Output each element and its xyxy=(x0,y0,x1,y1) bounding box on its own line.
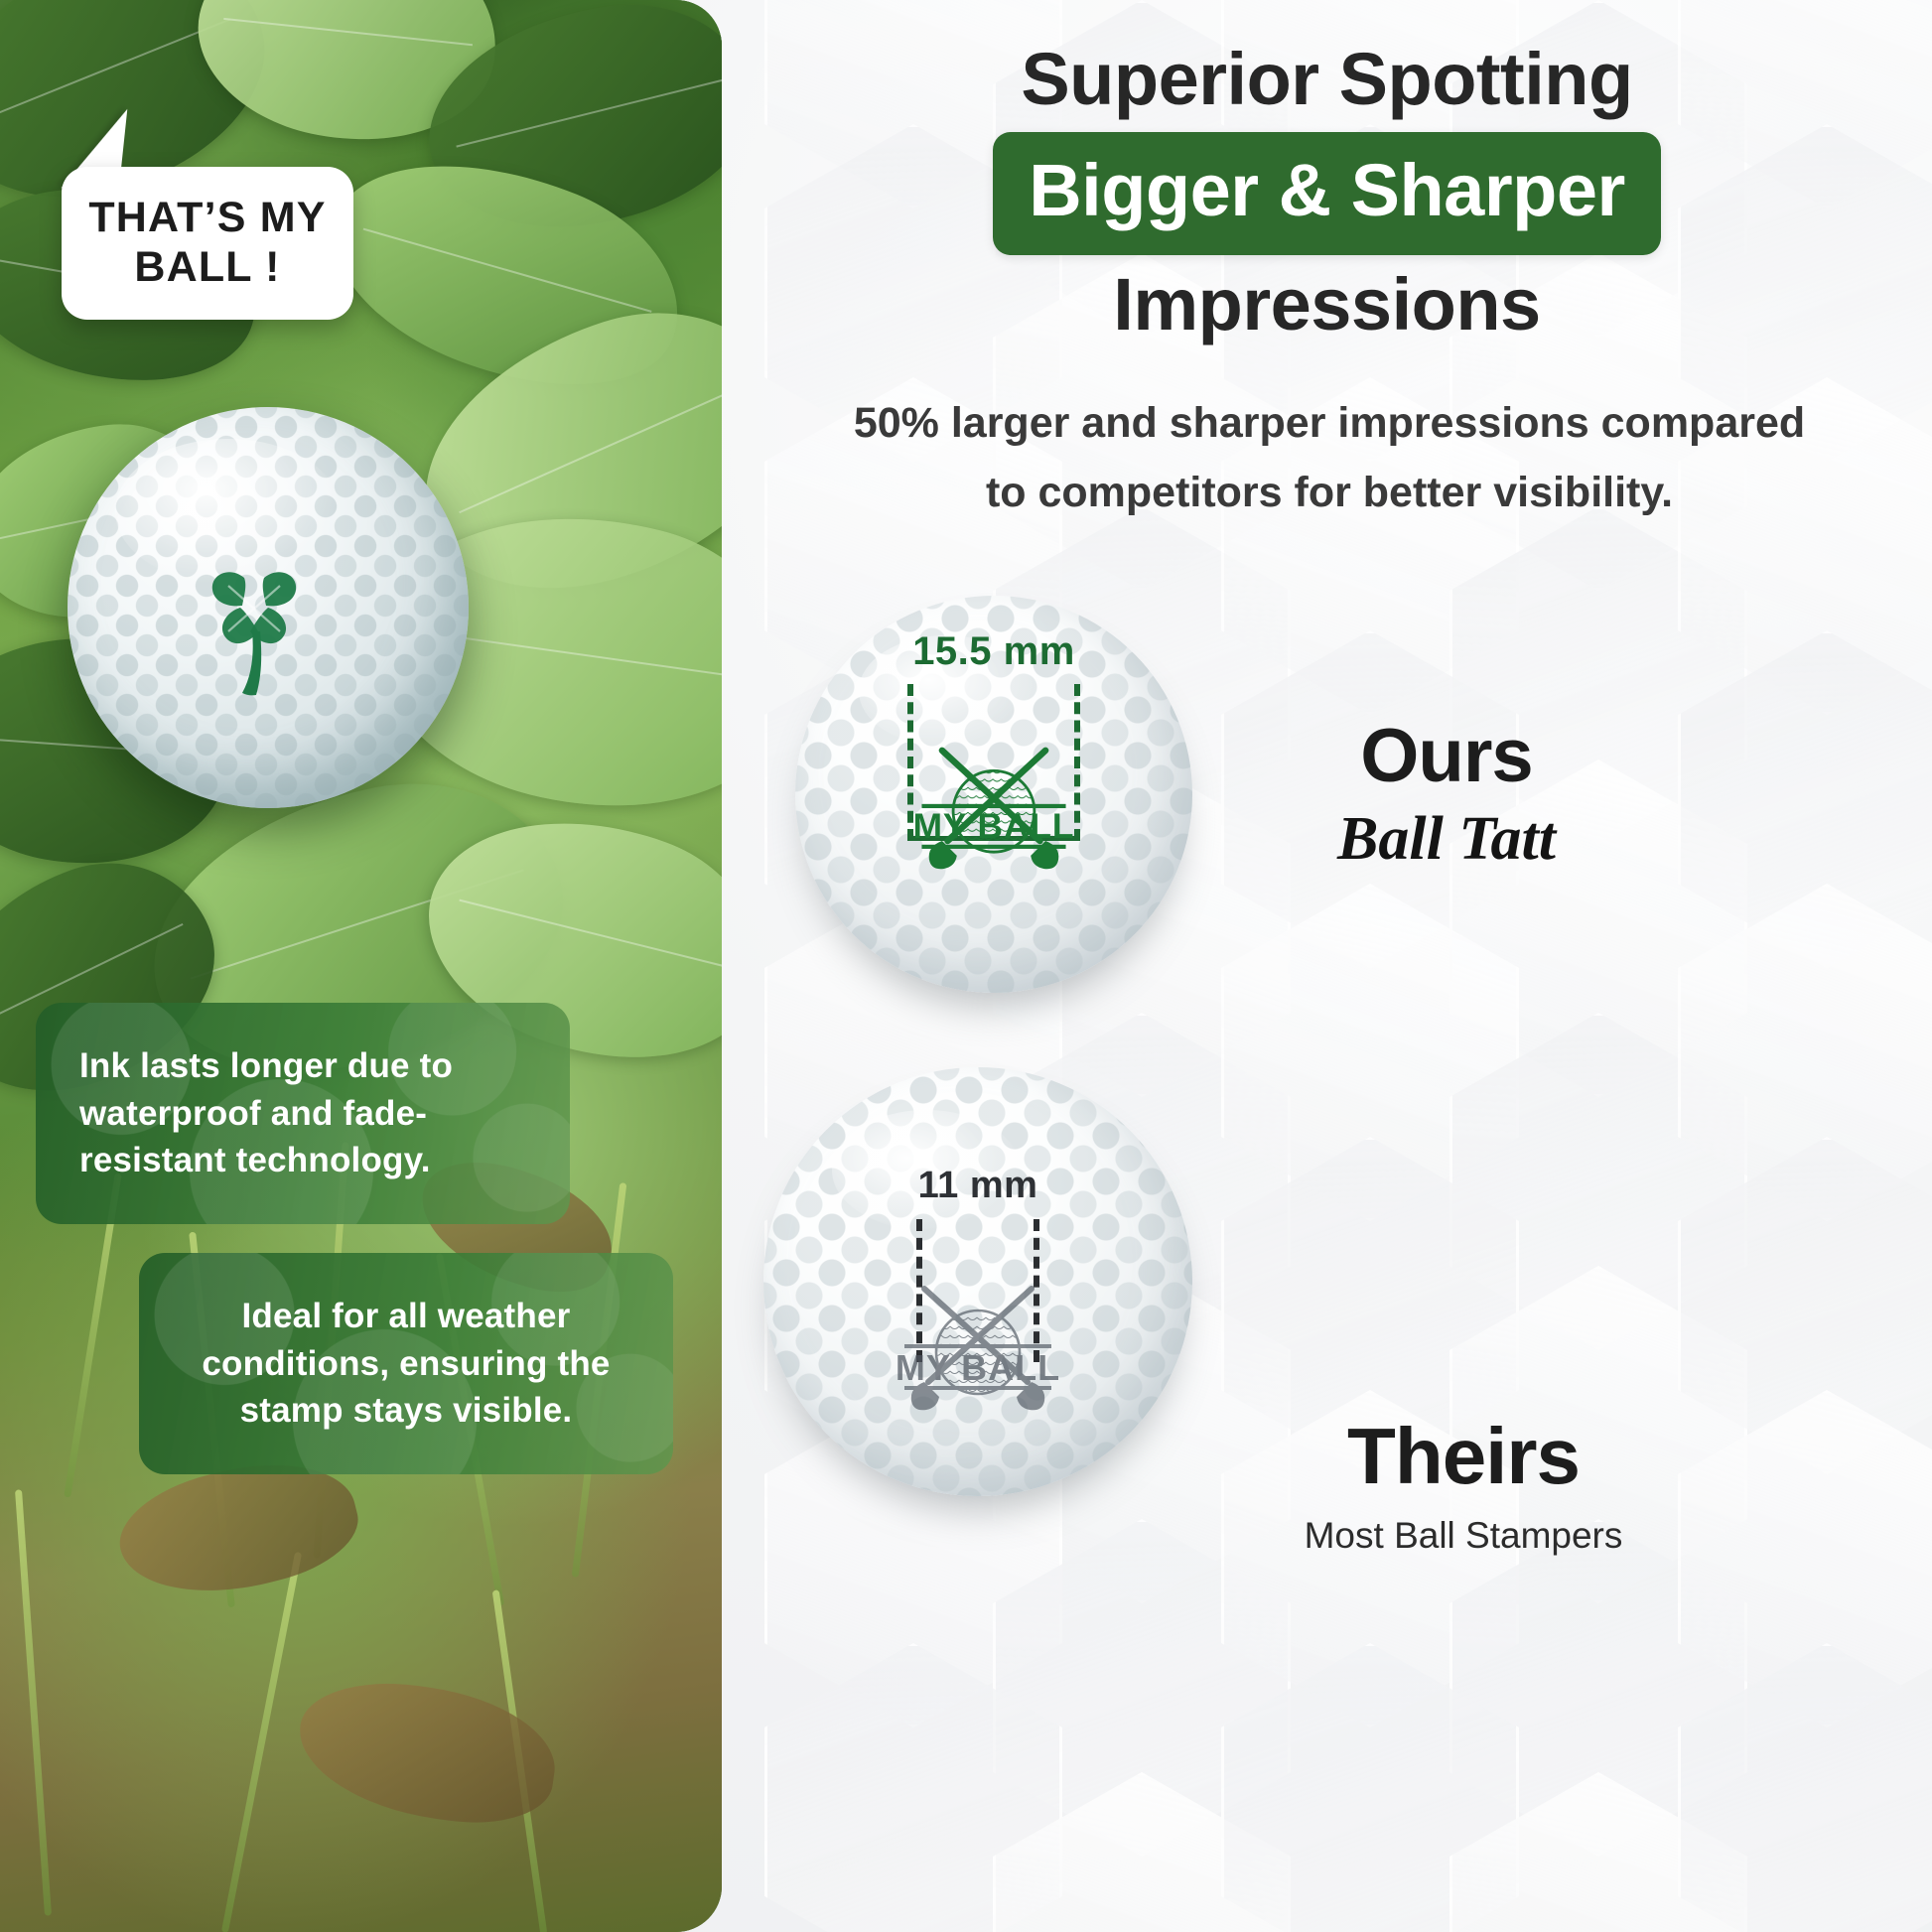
comparison-ours: 15.5 mm xyxy=(795,596,1192,993)
theirs-label-sub: Most Ball Stampers xyxy=(1230,1512,1697,1560)
emblem-wordmark-theirs: MY BALL xyxy=(896,1347,1060,1388)
headline-line-1: Superior Spotting xyxy=(722,42,1932,118)
speech-bubble-line-1: THAT’S MY xyxy=(88,194,326,241)
feature-callout-text: Ink lasts longer due to waterproof and f… xyxy=(79,1046,453,1179)
ours-label-main: Ours xyxy=(1218,719,1675,794)
headline-badge-row: Bigger & Sharper xyxy=(722,132,1932,255)
speech-bubble: THAT’S MY BALL ! xyxy=(62,167,353,320)
speech-bubble-line-2: BALL ! xyxy=(134,243,280,291)
feature-callout-text: Ideal for all weather conditions, ensuri… xyxy=(202,1297,610,1430)
golf-ball-ours: 15.5 mm xyxy=(795,596,1192,993)
size-label-ours: 15.5 mm xyxy=(912,629,1075,674)
my-ball-emblem-theirs: MY BALL xyxy=(879,1267,1077,1446)
my-ball-emblem-ours: MY BALL xyxy=(901,732,1086,898)
product-photo-panel: THAT’S MY BALL ! Ink lasts longer due to… xyxy=(0,0,722,1932)
measurement-brace-ours: MY BALL xyxy=(907,684,1080,841)
theirs-labels: Theirs Most Ball Stampers xyxy=(1230,1417,1697,1560)
right-content-column: Superior Spotting Bigger & Sharper Impre… xyxy=(722,0,1932,1932)
stamp-overlay-theirs: 11 mm xyxy=(763,1067,1192,1496)
feature-callout-weather: Ideal for all weather conditions, ensuri… xyxy=(139,1253,673,1474)
feature-callout-waterproof: Ink lasts longer due to waterproof and f… xyxy=(36,1003,570,1224)
subcopy-paragraph: 50% larger and sharper impressions compa… xyxy=(853,389,1806,527)
ours-labels: Ours Ball Tatt xyxy=(1218,719,1675,876)
measurement-brace-theirs: MY BALL xyxy=(916,1219,1039,1362)
stamped-golf-ball-photo xyxy=(68,407,469,808)
headline-badge: Bigger & Sharper xyxy=(993,132,1661,255)
emblem-wordmark-ours: MY BALL xyxy=(913,807,1075,846)
headline-block: Superior Spotting Bigger & Sharper Impre… xyxy=(722,42,1932,344)
ours-label-script: Ball Tatt xyxy=(1218,802,1675,876)
theirs-label-main: Theirs xyxy=(1230,1417,1697,1496)
infographic-canvas: THAT’S MY BALL ! Ink lasts longer due to… xyxy=(0,0,1932,1932)
size-label-theirs: 11 mm xyxy=(918,1165,1038,1207)
speech-bubble-text: THAT’S MY BALL ! xyxy=(88,194,326,293)
golf-ball-theirs: 11 mm xyxy=(763,1067,1192,1496)
headline-line-3: Impressions xyxy=(722,267,1932,344)
stamp-overlay-ours: 15.5 mm xyxy=(795,596,1192,993)
comparison-theirs: 11 mm xyxy=(763,1067,1192,1496)
clover-icon xyxy=(185,554,324,703)
